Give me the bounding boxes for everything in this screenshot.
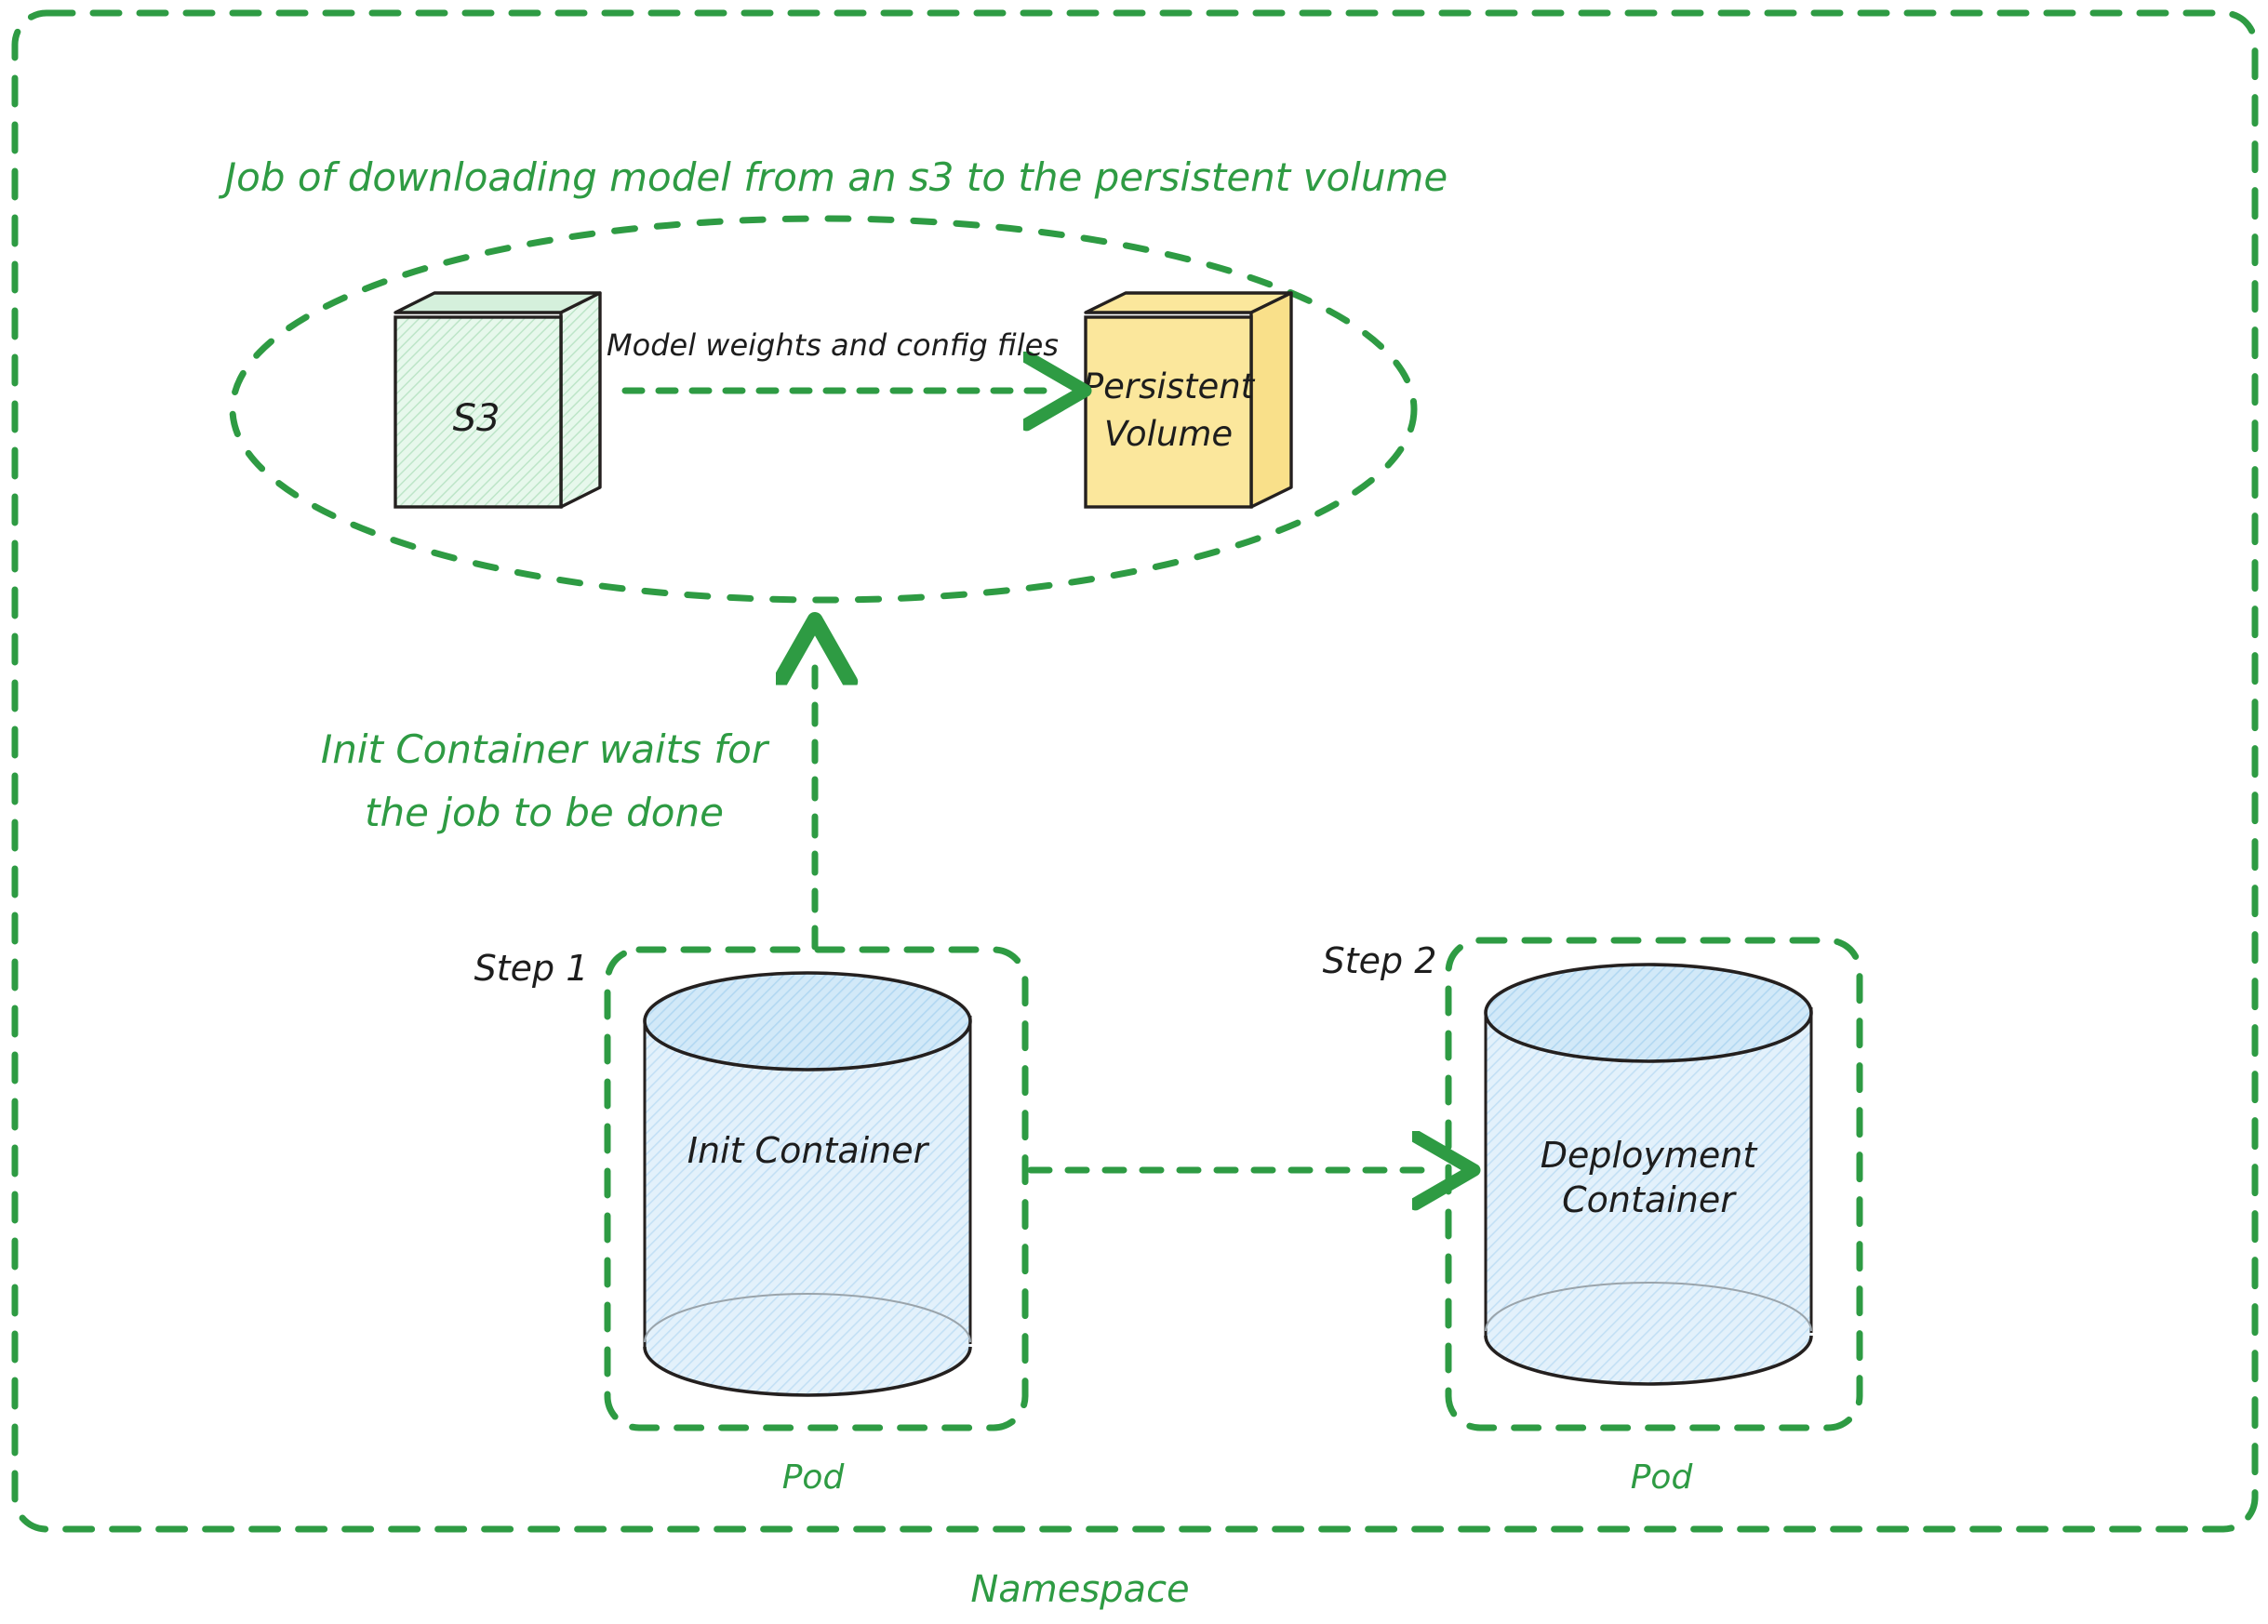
step-2-label: Step 2 [1323, 940, 1437, 981]
edge-init-waits-label-line1: Init Container waits for [321, 726, 770, 772]
edge-init-waits-label-line2: the job to be done [365, 790, 724, 835]
init-container-cylinder: Init Container [645, 973, 970, 1395]
step-1-label: Step 1 [474, 948, 589, 989]
deployment-container-cylinder: Deployment Container [1486, 965, 1811, 1384]
namespace-label: Namespace [970, 1568, 1189, 1611]
init-container-label: Init Container [687, 1130, 930, 1171]
job-group-title: Job of downloading model from an s3 to t… [219, 154, 1448, 200]
pod-2-label: Pod [1631, 1458, 1694, 1497]
persistent-volume-label-line1: Persistent [1083, 366, 1256, 406]
edge-s3-to-persistent-volume: Model weights and config files [607, 327, 1059, 391]
persistent-volume-cube: Persistent Volume [1083, 293, 1291, 507]
deployment-container-label-line2: Container [1562, 1179, 1737, 1220]
deployment-container-label-line1: Deployment [1541, 1135, 1759, 1176]
pod-1-label: Pod [782, 1458, 846, 1497]
diagram-svg: S3 Persistent Volume Model weights and c… [0, 0, 2268, 1624]
s3-label: S3 [453, 397, 500, 440]
s3-cube: S3 [395, 293, 600, 507]
diagram-canvas: S3 Persistent Volume Model weights and c… [0, 0, 2268, 1624]
persistent-volume-label-line2: Volume [1104, 414, 1233, 454]
edge-init-waits-for-job: Init Container waits for the job to be d… [321, 658, 815, 947]
edge-s3-to-pv-label: Model weights and config files [607, 327, 1059, 363]
